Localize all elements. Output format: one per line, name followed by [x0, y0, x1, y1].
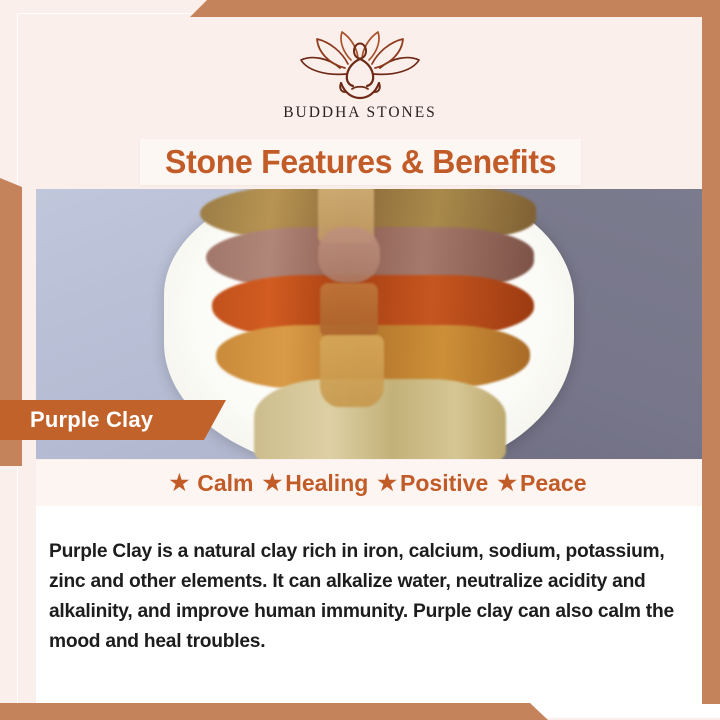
- benefit-label: Calm: [197, 470, 253, 497]
- star-icon: ★: [262, 472, 282, 494]
- description-area: Purple Clay is a natural clay rich in ir…: [36, 506, 720, 718]
- page-header: BUDDHA STONES Stone Features & Benefits: [18, 14, 702, 180]
- description-text: Purple Clay is a natural clay rich in ir…: [49, 536, 699, 656]
- benefit-label: Peace: [520, 470, 587, 497]
- benefit-item-peace: ★ Peace: [497, 470, 586, 497]
- benefit-item-calm: ★ Calm: [170, 470, 254, 497]
- clay-powder-rows: [198, 189, 538, 459]
- star-icon: ★: [377, 472, 397, 494]
- benefit-label: Positive: [400, 470, 488, 497]
- page-title: Stone Features & Benefits: [165, 143, 556, 181]
- brand-logo: BUDDHA STONES: [18, 28, 702, 121]
- product-name: Purple Clay: [30, 407, 153, 433]
- lotus-meditation-icon: [285, 28, 435, 102]
- benefit-item-positive: ★ Positive: [377, 470, 488, 497]
- right-edge-band: [702, 0, 720, 704]
- benefits-row: ★ Calm ★ Healing ★ Positive ★ Peace: [36, 460, 720, 506]
- star-icon: ★: [497, 472, 517, 494]
- brand-name: BUDDHA STONES: [283, 105, 437, 121]
- content-card: BUDDHA STONES Stone Features & Benefits: [18, 14, 702, 704]
- benefit-item-healing: ★ Healing: [262, 470, 368, 497]
- infographic-page: BUDDHA STONES Stone Features & Benefits: [0, 0, 720, 720]
- powder-center-swatch-3: [320, 283, 378, 337]
- benefit-label: Healing: [285, 470, 368, 497]
- star-icon: ★: [170, 472, 190, 494]
- page-title-bar: Stone Features & Benefits: [140, 139, 581, 185]
- product-name-ribbon: Purple Clay: [0, 400, 226, 440]
- powder-center-swatch-2: [318, 227, 380, 283]
- powder-center-swatch-4: [320, 335, 384, 407]
